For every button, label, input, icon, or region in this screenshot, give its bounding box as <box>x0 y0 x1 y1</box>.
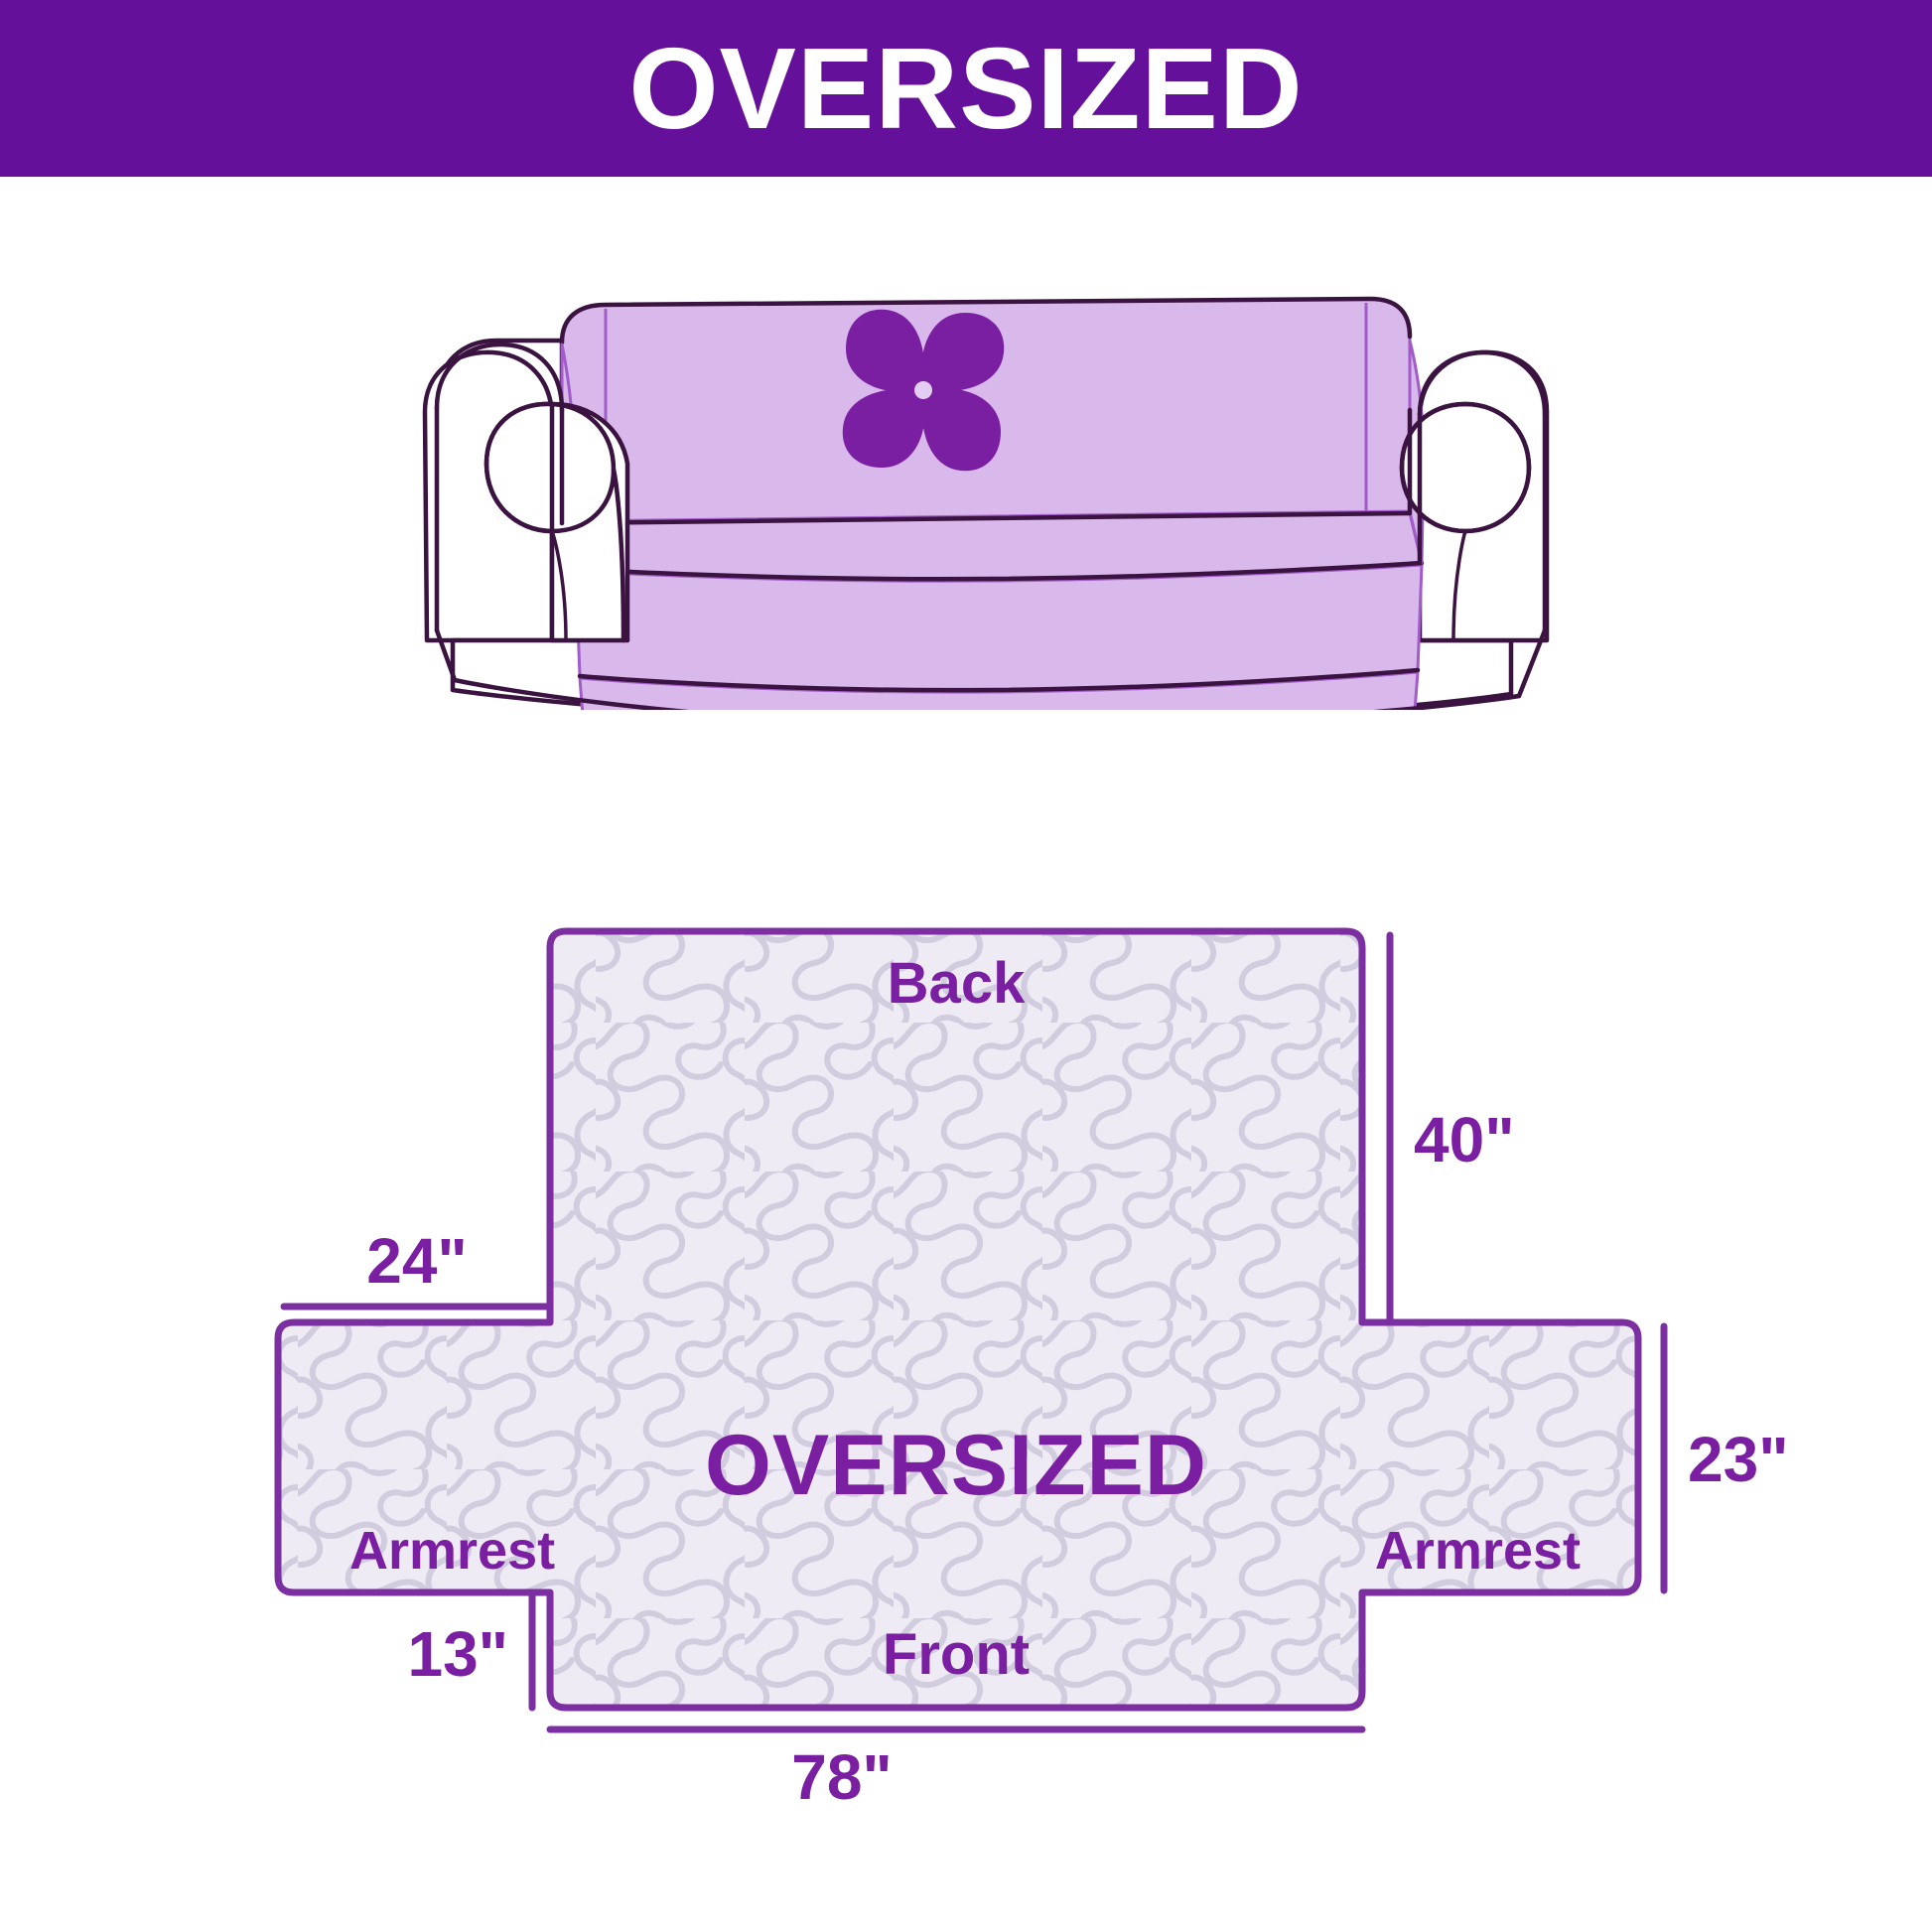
dimension-value-24: 24" <box>366 1225 468 1297</box>
dimension-value-13: 13" <box>407 1618 508 1690</box>
label-center-size: OVERSIZED <box>705 1418 1207 1513</box>
label-armrest-left: Armrest <box>349 1521 555 1581</box>
dimension-value-40: 40" <box>1414 1104 1515 1175</box>
dimension-value-78: 78" <box>791 1741 893 1813</box>
label-back: Back <box>888 951 1026 1016</box>
slipcover-dimension-diagram: Back OVERSIZED Armrest Armrest Front 40"… <box>0 874 1932 1866</box>
slipcover-cross-shape <box>278 931 1638 1708</box>
sofa-illustration: .ol { fill:none; stroke:#3b1340; stroke-… <box>367 213 1628 710</box>
dimension-back-height: 40" <box>1390 935 1515 1322</box>
dimension-front-skirt-height: 13" <box>407 1594 532 1708</box>
header-banner: OVERSIZED <box>0 0 1932 177</box>
dimension-total-width: 78" <box>550 1729 1362 1813</box>
dimension-armrest-depth-right: 23" <box>1664 1326 1789 1590</box>
label-front: Front <box>883 1622 1030 1687</box>
dimension-armrest-width-left: 24" <box>284 1225 550 1307</box>
page-title: OVERSIZED <box>628 31 1303 146</box>
sofa-seat-cover <box>562 513 1422 690</box>
label-armrest-right: Armrest <box>1375 1521 1581 1581</box>
dimension-value-23: 23" <box>1688 1424 1789 1495</box>
